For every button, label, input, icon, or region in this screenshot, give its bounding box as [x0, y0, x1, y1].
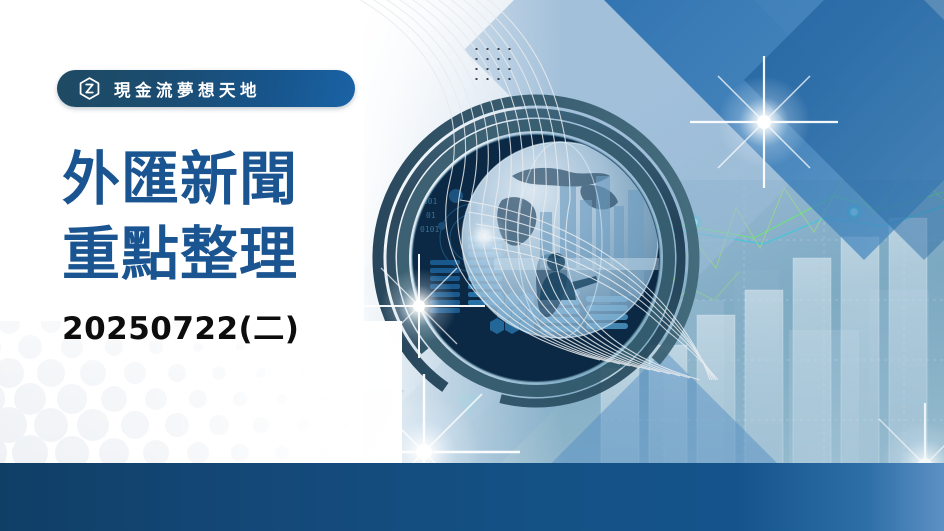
- hexagon-logo-icon: [79, 77, 100, 100]
- page-title-line-2: 重點整理: [62, 217, 299, 292]
- page-title-line-1: 外匯新聞: [62, 142, 299, 217]
- bottom-accent-bar: [0, 463, 944, 531]
- brand-badge-label: 現金流夢想天地: [114, 77, 261, 101]
- slide-canvas: 01 10 01 1001 01 0101: [0, 0, 944, 531]
- title-block: 外匯新聞 重點整理 20250722(二): [62, 142, 299, 348]
- date-label: 20250722(二): [62, 303, 299, 348]
- dot-grid-icon: [471, 44, 519, 88]
- brand-badge[interactable]: 現金流夢想天地: [57, 70, 355, 107]
